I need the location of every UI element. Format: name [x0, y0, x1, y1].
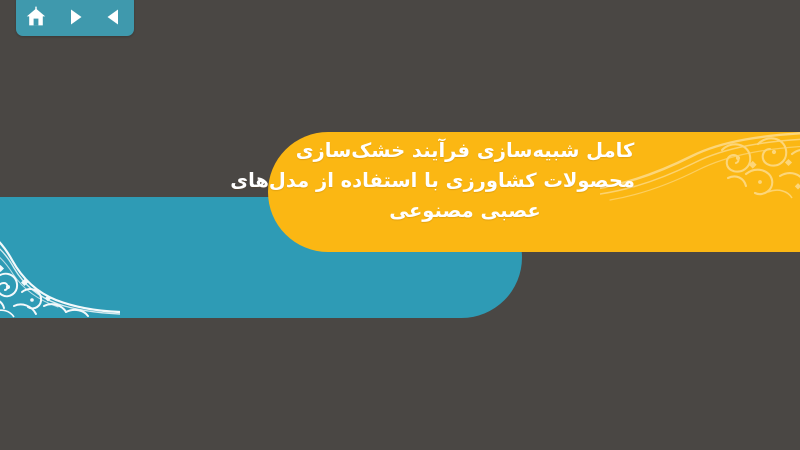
forward-arrow-icon[interactable] — [62, 4, 88, 30]
arabesque-ornament-teal — [0, 208, 120, 318]
title-line-1: کامل شبیه‌سازی فرآیند خشک‌سازی — [295, 136, 635, 166]
slide-title: کامل شبیه‌سازی فرآیند خشک‌سازی محصولات ک… — [295, 136, 635, 226]
title-line-2: محصولات کشاورزی با استفاده از مدل‌های — [295, 166, 635, 196]
title-line-3: عصبی مصنوعی — [295, 196, 635, 226]
presentation-slide: کامل شبیه‌سازی فرآیند خشک‌سازی محصولات ک… — [0, 0, 800, 450]
navigation-bar — [16, 0, 134, 36]
home-icon[interactable] — [23, 4, 49, 30]
back-arrow-icon[interactable] — [101, 4, 127, 30]
